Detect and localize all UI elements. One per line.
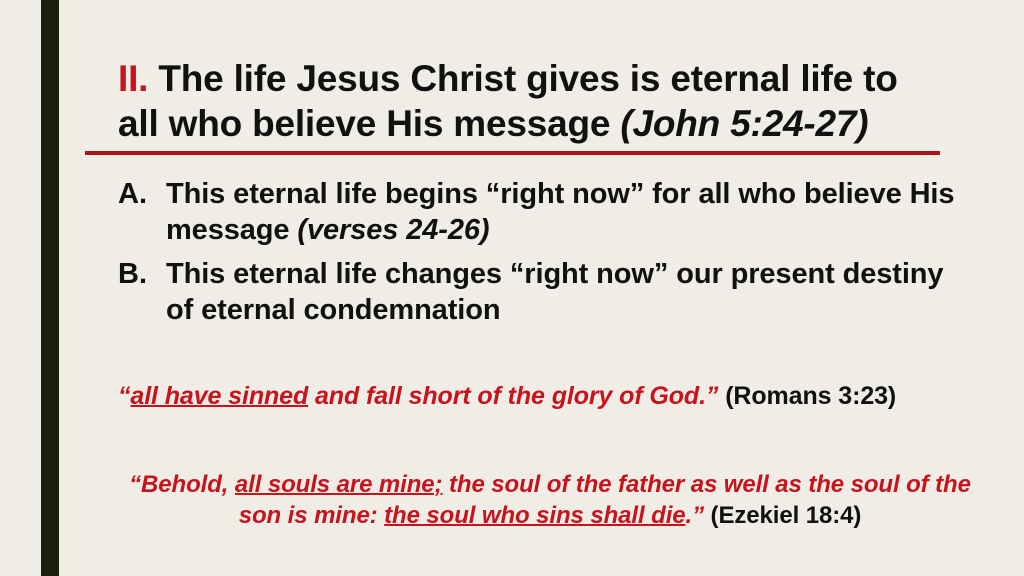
outline-list: A. This eternal life begins “right now” … bbox=[118, 176, 968, 336]
title-numeral: II. bbox=[118, 58, 148, 99]
title-underline-rule bbox=[85, 151, 940, 155]
romans-citation: (Romans 3:23) bbox=[718, 382, 896, 410]
ezekiel-citation: (Ezekiel 18:4) bbox=[704, 502, 861, 529]
outline-marker-a: A. bbox=[118, 176, 166, 212]
outline-item-b: B. This eternal life changes “right now”… bbox=[118, 256, 968, 328]
scripture-quote-romans: “all have sinned and fall short of the g… bbox=[118, 381, 998, 411]
outline-marker-b: B. bbox=[118, 256, 166, 292]
ezekiel-underlined-phrase-2: the soul who sins shall die bbox=[384, 502, 685, 529]
ezekiel-underlined-phrase-1: all souls are mine; bbox=[235, 471, 443, 498]
outline-text-a-body: This eternal life begins “right now” for… bbox=[166, 178, 954, 246]
title-line-2: all who believe His message (John 5:24-2… bbox=[118, 101, 958, 146]
outline-text-a: This eternal life begins “right now” for… bbox=[166, 176, 968, 248]
ezekiel-quote-rest-2: .” bbox=[686, 502, 704, 529]
slide-title: II. The life Jesus Christ gives is etern… bbox=[118, 56, 958, 146]
left-decorative-bar bbox=[41, 0, 59, 576]
ezekiel-open-quote: “Behold, bbox=[129, 471, 235, 498]
scripture-quote-ezekiel: “Behold, all souls are mine; the soul of… bbox=[110, 469, 990, 531]
title-line-1-text: The life Jesus Christ gives is eternal l… bbox=[148, 58, 897, 99]
title-scripture-reference: (John 5:24-27) bbox=[620, 103, 868, 144]
outline-reference-a: (verses 24-26) bbox=[297, 214, 489, 246]
title-line-2-text: all who believe His message bbox=[118, 103, 620, 144]
outline-text-b-body: This eternal life changes “right now” ou… bbox=[166, 258, 943, 326]
romans-underlined-phrase: all have sinned bbox=[130, 382, 308, 410]
presentation-slide: II. The life Jesus Christ gives is etern… bbox=[0, 0, 1024, 576]
romans-open-quote: “ bbox=[118, 382, 130, 410]
title-line-1: II. The life Jesus Christ gives is etern… bbox=[118, 56, 958, 101]
romans-quote-rest: and fall short of the glory of God.” bbox=[308, 382, 718, 410]
outline-item-a: A. This eternal life begins “right now” … bbox=[118, 176, 968, 248]
outline-text-b: This eternal life changes “right now” ou… bbox=[166, 256, 968, 328]
